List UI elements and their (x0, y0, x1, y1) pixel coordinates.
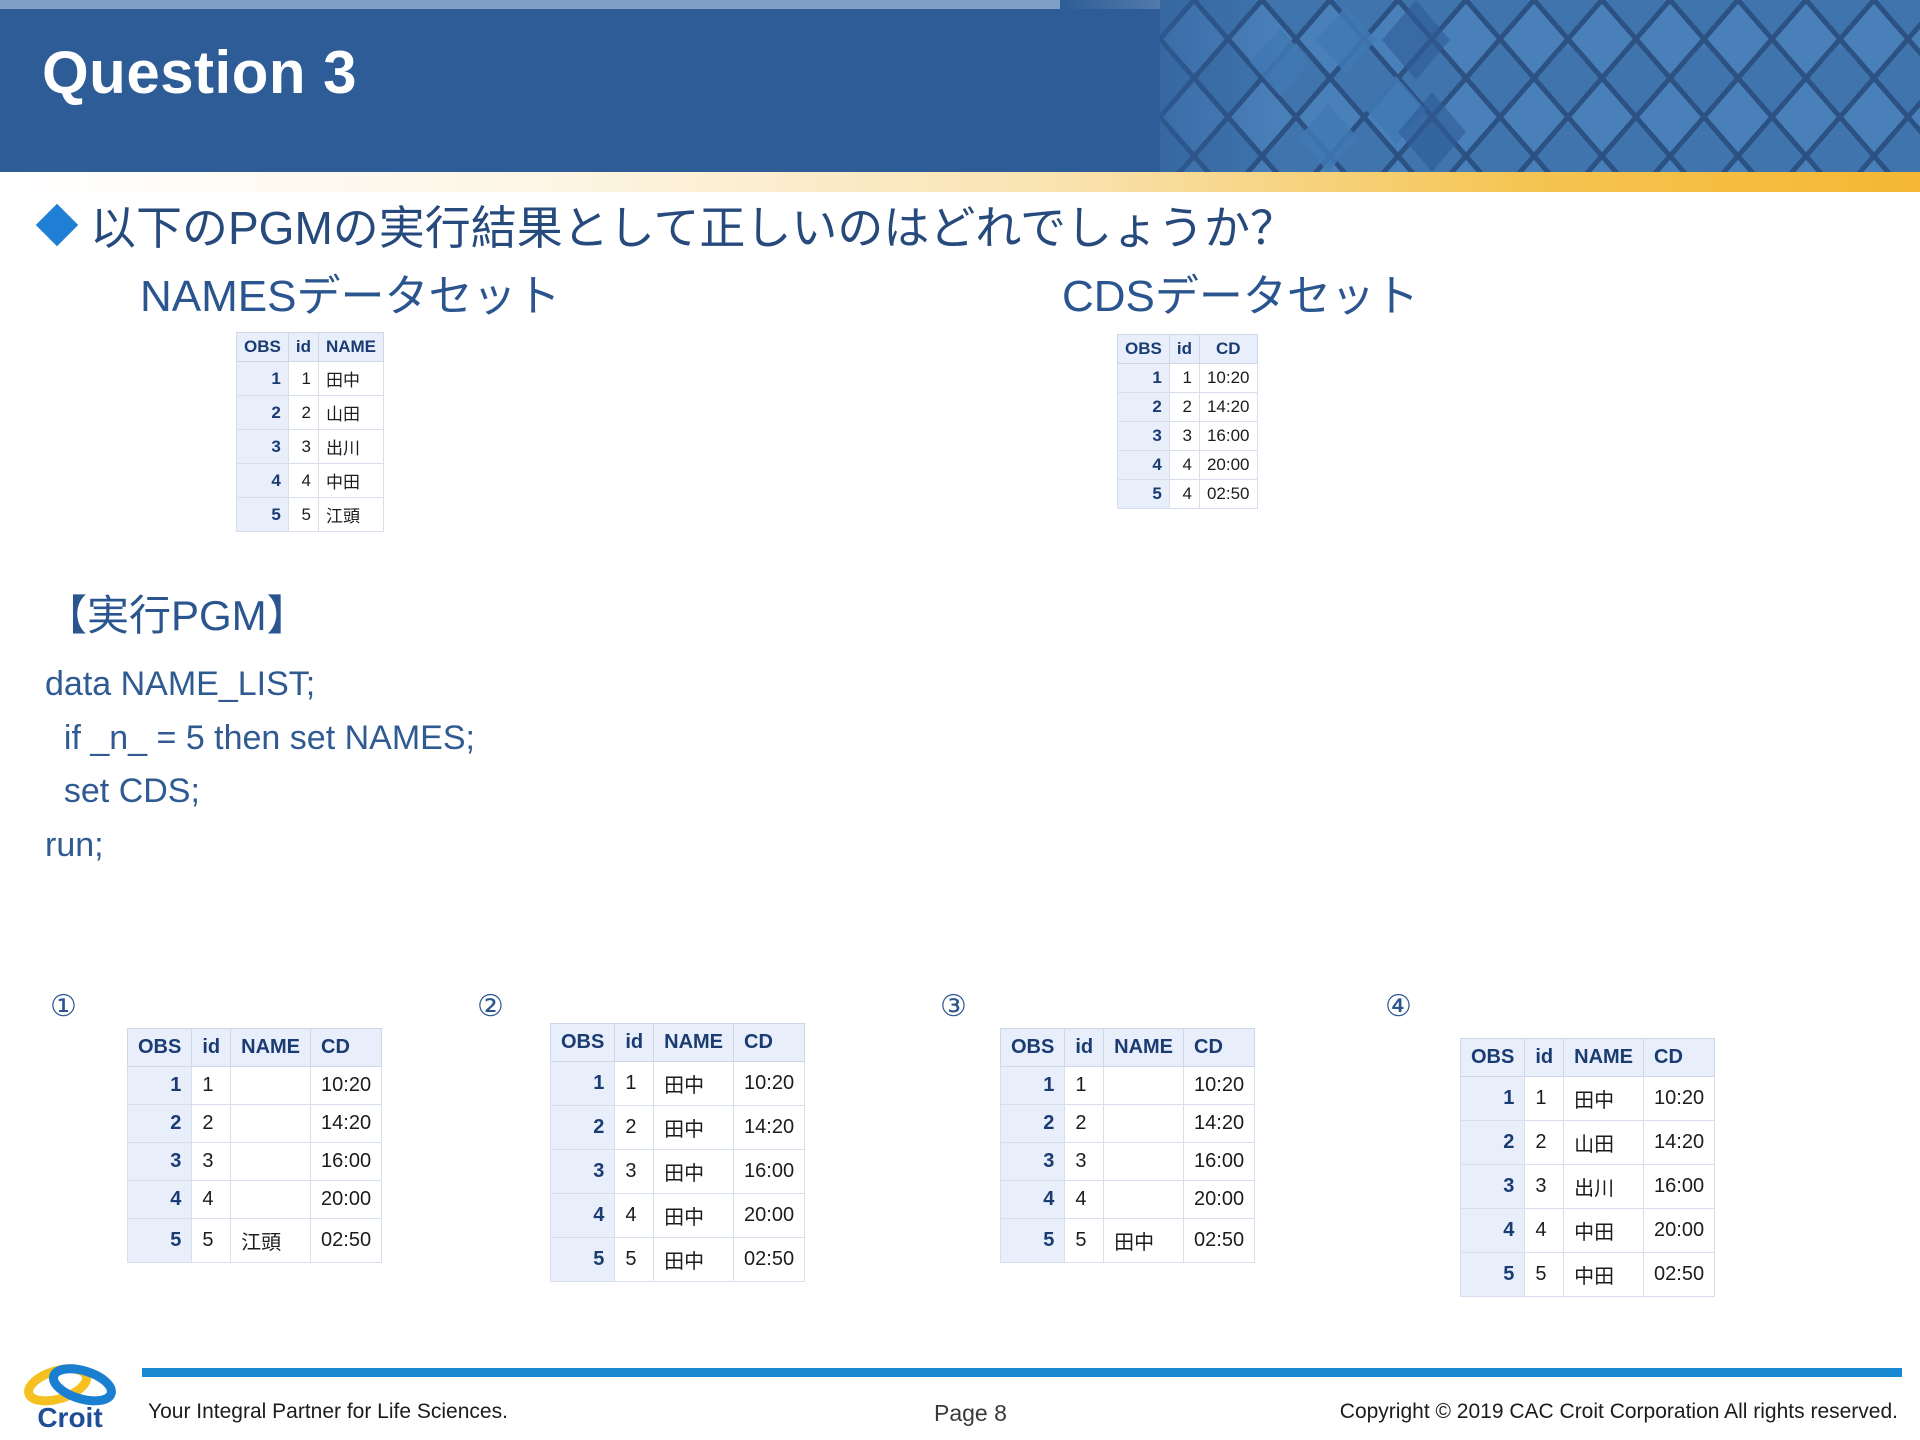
cell-name: 中田 (318, 464, 383, 498)
pgm-code-line: set CDS; (45, 765, 475, 819)
table-row: 3 3 16:00 (1001, 1143, 1255, 1181)
cell-cd: 20:00 (311, 1181, 382, 1219)
cell-obs: 5 (1461, 1253, 1525, 1297)
table-header-row: OBS id NAME CD (551, 1024, 805, 1062)
cell-id: 4 (1169, 451, 1199, 480)
cell-cd: 14:20 (1184, 1105, 1255, 1143)
cell-name: 江頭 (318, 498, 383, 532)
cell-name (231, 1181, 311, 1219)
column-header-id: id (1065, 1029, 1104, 1067)
cell-obs: 4 (1001, 1181, 1065, 1219)
cell-id: 2 (1169, 393, 1199, 422)
cell-obs: 2 (1118, 393, 1170, 422)
cell-id: 1 (1169, 364, 1199, 393)
cell-id: 5 (615, 1238, 654, 1282)
cell-cd: 16:00 (1184, 1143, 1255, 1181)
cell-obs: 4 (128, 1181, 192, 1219)
table-row: 3 3 16:00 (1118, 422, 1258, 451)
cell-name: 田中 (1564, 1077, 1644, 1121)
column-header-obs: OBS (1461, 1039, 1525, 1077)
cell-id: 3 (1065, 1143, 1104, 1181)
cell-obs: 2 (551, 1106, 615, 1150)
cell-name: 出川 (318, 430, 383, 464)
cell-id: 1 (288, 362, 318, 396)
names-dataset-table: OBS id NAME 1 1 田中 2 2 山田 3 3 (236, 332, 384, 532)
cell-obs: 5 (1001, 1219, 1065, 1263)
footer-tagline: Your Integral Partner for Life Sciences. (148, 1400, 508, 1424)
cell-id: 3 (615, 1150, 654, 1194)
slide-footer: Croit Your Integral Partner for Life Sci… (0, 1360, 1920, 1440)
question-prompt: 以下のPGMの実行結果として正しいのはどれでしょうか？ (42, 192, 1296, 258)
footer-divider-line (142, 1368, 1902, 1377)
cell-cd: 10:20 (1184, 1067, 1255, 1105)
table-header-row: OBS id NAME CD (128, 1029, 382, 1067)
table-row: 3 3 出川 16:00 (1461, 1165, 1715, 1209)
option-table-2[interactable]: OBS id NAME CD 1 1 田中 10:20 2 2 田中 14:20 (550, 1023, 805, 1282)
question-prompt-text: 以下のPGMの実行結果として正しいのはどれでしょうか？ (90, 192, 1296, 258)
cell-id: 1 (192, 1067, 231, 1105)
column-header-id: id (288, 333, 318, 362)
cell-obs: 2 (237, 396, 289, 430)
header-gold-accent-strip (0, 172, 1920, 192)
table-row: 1 1 10:20 (1001, 1067, 1255, 1105)
cell-cd: 14:20 (311, 1105, 382, 1143)
page-title: Question 3 (42, 38, 357, 107)
option-number-3: ③ (940, 989, 967, 1024)
table-row: 5 5 田中 02:50 (1001, 1219, 1255, 1263)
table-row: 1 1 田中 10:20 (551, 1062, 805, 1106)
cell-name: 江頭 (231, 1219, 311, 1263)
slide-header: Question 3 (0, 0, 1920, 172)
cell-id: 4 (1065, 1181, 1104, 1219)
cell-cd: 16:00 (734, 1150, 805, 1194)
footer-page-number: Page 8 (934, 1400, 1007, 1427)
cell-cd: 16:00 (311, 1143, 382, 1181)
cell-obs: 1 (1461, 1077, 1525, 1121)
cell-id: 3 (192, 1143, 231, 1181)
cell-id: 5 (1525, 1253, 1564, 1297)
column-header-cd: CD (734, 1024, 805, 1062)
cell-cd: 10:20 (734, 1062, 805, 1106)
cell-obs: 2 (1461, 1121, 1525, 1165)
column-header-id: id (1525, 1039, 1564, 1077)
cell-id: 1 (1065, 1067, 1104, 1105)
table-header-row: OBS id CD (1118, 335, 1258, 364)
table-row: 4 4 中田 20:00 (1461, 1209, 1715, 1253)
cell-id: 5 (192, 1219, 231, 1263)
table-row: 4 4 20:00 (128, 1181, 382, 1219)
table-row: 4 4 20:00 (1001, 1181, 1255, 1219)
cell-obs: 3 (1461, 1165, 1525, 1209)
column-header-id: id (615, 1024, 654, 1062)
cell-obs: 4 (1118, 451, 1170, 480)
cell-obs: 1 (551, 1062, 615, 1106)
cell-id: 3 (288, 430, 318, 464)
cell-cd: 02:50 (734, 1238, 805, 1282)
cell-name (1104, 1105, 1184, 1143)
table-row: 1 1 田中 (237, 362, 384, 396)
pgm-section-title: 【実行PGM】 (45, 582, 309, 643)
column-header-cd: CD (1644, 1039, 1715, 1077)
cell-cd: 02:50 (1184, 1219, 1255, 1263)
cell-cd: 02:50 (311, 1219, 382, 1263)
cell-obs: 2 (1001, 1105, 1065, 1143)
cell-id: 1 (1525, 1077, 1564, 1121)
option-number-2: ② (477, 989, 504, 1024)
column-header-name: NAME (1564, 1039, 1644, 1077)
cell-id: 4 (192, 1181, 231, 1219)
cell-obs: 5 (128, 1219, 192, 1263)
column-header-name: NAME (1104, 1029, 1184, 1067)
cell-id: 2 (192, 1105, 231, 1143)
cell-obs: 4 (1461, 1209, 1525, 1253)
croit-logo-icon: Croit (10, 1360, 130, 1434)
cell-id: 2 (288, 396, 318, 430)
cell-id: 2 (615, 1106, 654, 1150)
cell-id: 5 (288, 498, 318, 532)
cell-cd: 20:00 (1644, 1209, 1715, 1253)
cell-id: 1 (615, 1062, 654, 1106)
cell-name: 田中 (654, 1238, 734, 1282)
pgm-code-line: if _n_ = 5 then set NAMES; (45, 712, 475, 766)
cell-id: 4 (1525, 1209, 1564, 1253)
diamond-bullet-icon (36, 204, 78, 246)
cell-cd: 10:20 (1199, 364, 1257, 393)
cell-name: 中田 (1564, 1209, 1644, 1253)
cell-name (231, 1105, 311, 1143)
cell-cd: 10:20 (1644, 1077, 1715, 1121)
table-row: 2 2 14:20 (128, 1105, 382, 1143)
cell-obs: 1 (1001, 1067, 1065, 1105)
column-header-cd: CD (1199, 335, 1257, 364)
table-row: 1 1 田中 10:20 (1461, 1077, 1715, 1121)
table-row: 5 5 田中 02:50 (551, 1238, 805, 1282)
cell-obs: 1 (237, 362, 289, 396)
names-dataset-label: NAMESデータセット (140, 260, 560, 324)
cell-id: 5 (1065, 1219, 1104, 1263)
cell-id: 2 (1065, 1105, 1104, 1143)
cell-id: 4 (1169, 480, 1199, 509)
table-row: 1 1 10:20 (1118, 364, 1258, 393)
column-header-name: NAME (318, 333, 383, 362)
cell-id: 3 (1525, 1165, 1564, 1209)
cell-cd: 20:00 (734, 1194, 805, 1238)
table-row: 2 2 山田 (237, 396, 384, 430)
cell-name: 田中 (318, 362, 383, 396)
table-row: 2 2 田中 14:20 (551, 1106, 805, 1150)
cell-obs: 5 (551, 1238, 615, 1282)
cell-cd: 16:00 (1644, 1165, 1715, 1209)
table-row: 4 4 田中 20:00 (551, 1194, 805, 1238)
cell-name (231, 1143, 311, 1181)
option-number-1: ① (50, 989, 77, 1024)
cell-cd: 14:20 (1644, 1121, 1715, 1165)
column-header-name: NAME (231, 1029, 311, 1067)
cds-dataset-label: CDSデータセット (1062, 260, 1419, 324)
table-row: 3 3 16:00 (128, 1143, 382, 1181)
cell-obs: 3 (128, 1143, 192, 1181)
cell-name (1104, 1181, 1184, 1219)
cell-cd: 14:20 (1199, 393, 1257, 422)
column-header-name: NAME (654, 1024, 734, 1062)
cell-cd: 16:00 (1199, 422, 1257, 451)
table-row: 5 5 江頭 (237, 498, 384, 532)
cell-name: 山田 (318, 396, 383, 430)
cell-name (1104, 1143, 1184, 1181)
table-row: 3 3 田中 16:00 (551, 1150, 805, 1194)
croit-logo-wordmark: Croit (37, 1402, 102, 1433)
cell-cd: 20:00 (1199, 451, 1257, 480)
column-header-id: id (1169, 335, 1199, 364)
cell-name: 出川 (1564, 1165, 1644, 1209)
table-row: 3 3 出川 (237, 430, 384, 464)
table-row: 1 1 10:20 (128, 1067, 382, 1105)
column-header-obs: OBS (1001, 1029, 1065, 1067)
cell-name: 山田 (1564, 1121, 1644, 1165)
table-row: 5 5 中田 02:50 (1461, 1253, 1715, 1297)
pgm-code-line: run; (45, 819, 475, 873)
cell-obs: 3 (237, 430, 289, 464)
cell-name: 田中 (654, 1150, 734, 1194)
option-number-4: ④ (1385, 989, 1412, 1024)
cell-obs: 4 (237, 464, 289, 498)
table-row: 4 4 中田 (237, 464, 384, 498)
cell-cd: 14:20 (734, 1106, 805, 1150)
option-table-3[interactable]: OBS id NAME CD 1 1 10:20 2 2 14:20 (1000, 1028, 1255, 1263)
cell-id: 4 (615, 1194, 654, 1238)
column-header-obs: OBS (128, 1029, 192, 1067)
option-table-1[interactable]: OBS id NAME CD 1 1 10:20 2 2 14:20 (127, 1028, 382, 1263)
cell-cd: 10:20 (311, 1067, 382, 1105)
pgm-code-line: data NAME_LIST; (45, 658, 475, 712)
cds-dataset-table: OBS id CD 1 1 10:20 2 2 14:20 3 (1117, 334, 1258, 509)
cell-obs: 5 (237, 498, 289, 532)
column-header-obs: OBS (237, 333, 289, 362)
column-header-cd: CD (311, 1029, 382, 1067)
cell-cd: 02:50 (1199, 480, 1257, 509)
cell-name: 田中 (654, 1194, 734, 1238)
header-pattern-fade (1060, 0, 1280, 172)
cell-id: 4 (288, 464, 318, 498)
column-header-id: id (192, 1029, 231, 1067)
cell-name: 田中 (654, 1106, 734, 1150)
table-row: 4 4 20:00 (1118, 451, 1258, 480)
table-header-row: OBS id NAME CD (1001, 1029, 1255, 1067)
cell-obs: 3 (1001, 1143, 1065, 1181)
cell-cd: 02:50 (1644, 1253, 1715, 1297)
column-header-cd: CD (1184, 1029, 1255, 1067)
table-header-row: OBS id NAME (237, 333, 384, 362)
column-header-obs: OBS (1118, 335, 1170, 364)
cell-cd: 20:00 (1184, 1181, 1255, 1219)
cell-obs: 5 (1118, 480, 1170, 509)
cell-obs: 1 (1118, 364, 1170, 393)
cell-id: 3 (1169, 422, 1199, 451)
cell-name: 中田 (1564, 1253, 1644, 1297)
cell-id: 2 (1525, 1121, 1564, 1165)
table-row: 5 5 江頭 02:50 (128, 1219, 382, 1263)
pgm-code-block: data NAME_LIST; if _n_ = 5 then set NAME… (45, 658, 475, 873)
cell-name: 田中 (1104, 1219, 1184, 1263)
table-row: 5 4 02:50 (1118, 480, 1258, 509)
column-header-obs: OBS (551, 1024, 615, 1062)
cell-name (231, 1067, 311, 1105)
cell-name: 田中 (654, 1062, 734, 1106)
cell-obs: 3 (551, 1150, 615, 1194)
cell-obs: 2 (128, 1105, 192, 1143)
table-row: 2 2 14:20 (1001, 1105, 1255, 1143)
cell-name (1104, 1067, 1184, 1105)
cell-obs: 4 (551, 1194, 615, 1238)
slide-root: Question 3 以下のPGMの実行結果として正しいのはどれでしょうか？ N… (0, 0, 1920, 1440)
cell-obs: 3 (1118, 422, 1170, 451)
table-row: 2 2 14:20 (1118, 393, 1258, 422)
option-table-4[interactable]: OBS id NAME CD 1 1 田中 10:20 2 2 山田 14:20 (1460, 1038, 1715, 1297)
cell-obs: 1 (128, 1067, 192, 1105)
table-row: 2 2 山田 14:20 (1461, 1121, 1715, 1165)
footer-copyright: Copyright © 2019 CAC Croit Corporation A… (1340, 1400, 1898, 1424)
table-header-row: OBS id NAME CD (1461, 1039, 1715, 1077)
